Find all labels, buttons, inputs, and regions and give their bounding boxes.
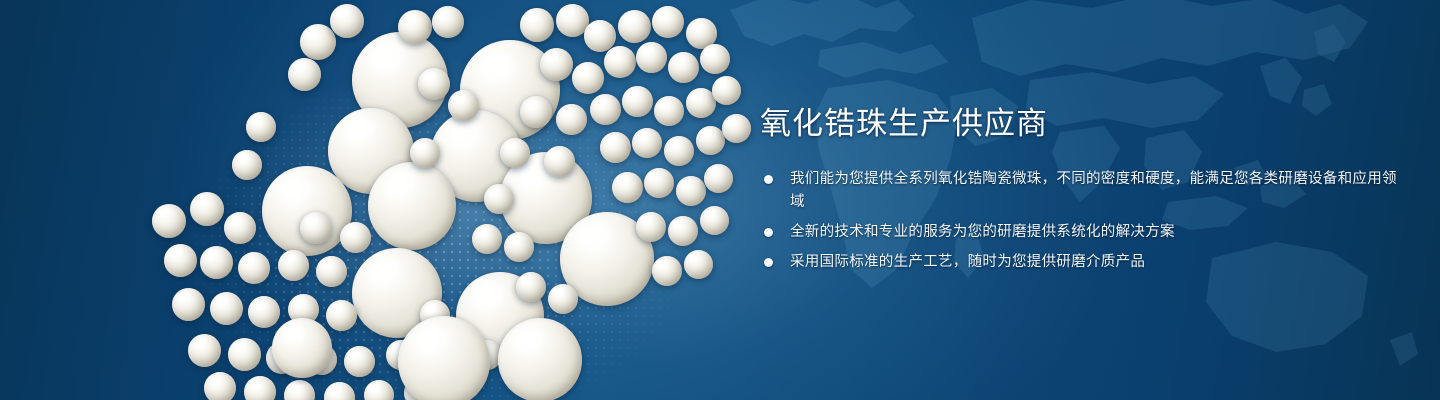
list-item-label: 全新的技术和专业的服务为您的研磨提供系统化的解决方案 bbox=[790, 224, 1175, 240]
hero-banner: 氧化锆珠生产供应商 我们能为您提供全系列氧化锆陶瓷微珠，不同的密度和硬度，能满足… bbox=[0, 0, 1440, 400]
filled-circle-bullet-icon bbox=[764, 228, 773, 237]
list-item: 我们能为您提供全系列氧化锆陶瓷微珠，不同的密度和硬度，能满足您各类研磨设备和应用… bbox=[760, 168, 1400, 214]
list-item-label: 我们能为您提供全系列氧化锆陶瓷微珠，不同的密度和硬度，能满足您各类研磨设备和应用… bbox=[790, 171, 1397, 210]
page-title: 氧化锆珠生产供应商 bbox=[760, 104, 1400, 144]
filled-circle-bullet-icon bbox=[764, 258, 773, 267]
filled-circle-bullet-icon bbox=[764, 175, 773, 184]
list-item: 全新的技术和专业的服务为您的研磨提供系统化的解决方案 bbox=[760, 221, 1400, 244]
list-item-label: 采用国际标准的生产工艺，随时为您提供研磨介质产品 bbox=[790, 254, 1145, 270]
list-item: 采用国际标准的生产工艺，随时为您提供研磨介质产品 bbox=[760, 251, 1400, 274]
feature-list: 我们能为您提供全系列氧化锆陶瓷微珠，不同的密度和硬度，能满足您各类研磨设备和应用… bbox=[760, 168, 1400, 274]
banner-copy: 氧化锆珠生产供应商 我们能为您提供全系列氧化锆陶瓷微珠，不同的密度和硬度，能满足… bbox=[760, 104, 1400, 281]
